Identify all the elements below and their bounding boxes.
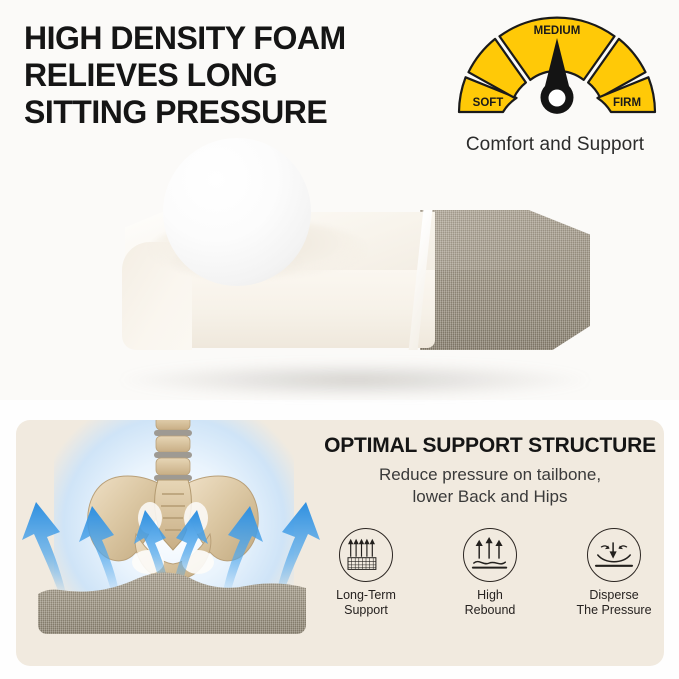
headline-line-1: HIGH DENSITY FOAM (24, 20, 454, 57)
wave-up-arrows-icon (463, 528, 517, 582)
optimal-support-panel: OPTIMAL SUPPORT STRUCTURE Reduce pressur… (16, 420, 664, 666)
infographic-root: HIGH DENSITY FOAM RELIEVES LONG SITTING … (0, 0, 679, 679)
feature-label-line-1: High (442, 588, 538, 603)
arrow-2 (79, 506, 119, 594)
feature-label-line-1: Disperse (566, 588, 662, 603)
feature-high-rebound: High Rebound (442, 528, 538, 618)
firmness-gauge: SOFT MEDIUM FIRM Comfort and Support (440, 16, 670, 146)
panel-text-block: OPTIMAL SUPPORT STRUCTURE Reduce pressur… (316, 434, 664, 508)
arrow-5 (223, 506, 263, 594)
product-shadow (120, 362, 590, 398)
panel-subtitle-line-1: Reduce pressure on tailbone, (316, 464, 664, 486)
arrow-6 (276, 502, 320, 596)
panel-subtitle-line-2: lower Back and Hips (316, 486, 664, 508)
feature-disperse-pressure: Disperse The Pressure (566, 528, 662, 618)
headline-line-2: RELIEVES LONG (24, 57, 454, 94)
gauge-label-firm: FIRM (613, 97, 641, 109)
feature-label-line-2: Rebound (442, 603, 538, 618)
feature-label: Disperse The Pressure (566, 588, 662, 618)
gauge-label-medium: MEDIUM (534, 25, 581, 37)
spine-vertebrae (154, 420, 192, 481)
feature-list: Long-Term Support (316, 528, 664, 618)
gauge-dial-icon: SOFT MEDIUM FIRM (452, 16, 662, 116)
feature-label: Long-Term Support (318, 588, 414, 618)
feature-label-line-2: Support (318, 603, 414, 618)
gauge-needle-hub (549, 90, 566, 107)
foam-cushion-cutaway (0, 130, 679, 400)
pelvis-spine-illustration (16, 420, 326, 666)
arrow-1 (22, 502, 66, 596)
disperse-arrows-icon (587, 528, 641, 582)
feature-label-line-2: The Pressure (566, 603, 662, 618)
cushion-fabric-front (420, 270, 590, 350)
headline-line-3: SITTING PRESSURE (24, 94, 454, 131)
gauge-label-soft: SOFT (473, 97, 504, 109)
feature-long-term-support: Long-Term Support (318, 528, 414, 618)
page-headline: HIGH DENSITY FOAM RELIEVES LONG SITTING … (24, 20, 454, 131)
top-section: HIGH DENSITY FOAM RELIEVES LONG SITTING … (0, 0, 679, 400)
panel-subtitle: Reduce pressure on tailbone, lower Back … (316, 464, 664, 508)
grid-up-arrows-icon (339, 528, 393, 582)
panel-title: OPTIMAL SUPPORT STRUCTURE (316, 434, 664, 458)
pressure-test-sphere (163, 138, 311, 286)
feature-label: High Rebound (442, 588, 538, 618)
feature-label-line-1: Long-Term (318, 588, 414, 603)
